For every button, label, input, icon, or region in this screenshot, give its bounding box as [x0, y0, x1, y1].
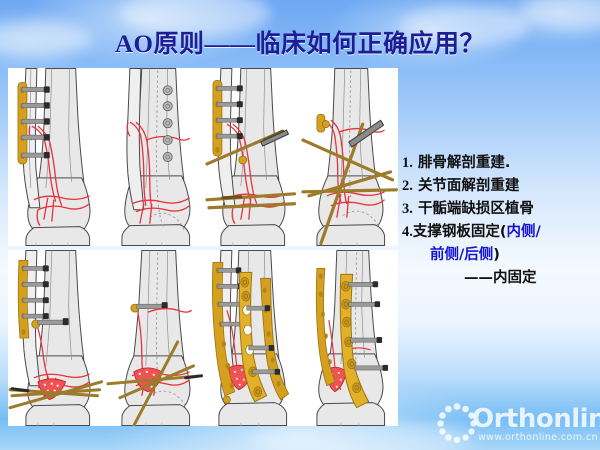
list-item-4: 4.支撑钢板固定(内侧/: [402, 221, 598, 244]
figure-bone-graft-metaphyseal-defect-lateral: [8, 250, 106, 426]
watermark-brand: Orthonline: [472, 404, 600, 434]
list-item-3-number: 3.: [402, 201, 413, 217]
list-item-1: 1. 腓骨解剖重建.: [402, 152, 598, 175]
watermark: Orthonline www.orthonline.com.cn: [436, 400, 600, 448]
list-item-1-number: 1.: [402, 155, 413, 171]
list-item-3-label: 干骺端缺损区植骨: [418, 201, 534, 217]
list-item-3: 3. 干骺端缺损区植骨: [402, 198, 598, 221]
slide-canvas: AO原则——临床如何正确应用？: [0, 0, 600, 450]
figure-buttress-plate-medial-anterior-fixation: [203, 250, 301, 426]
list-item-4-continuation: 前侧/后侧): [402, 244, 598, 267]
figure-kwire-provisional-fixation-anterior: [301, 68, 399, 246]
list-item-4-number: 4.: [402, 224, 413, 240]
figure-kwire-provisional-fixation-lateral: [203, 68, 301, 246]
list-conclusion: ——内固定: [402, 267, 598, 290]
list-item-4-closeparen: ): [493, 247, 500, 263]
figure-fibula-plate-posterior-view-fracture: [106, 68, 204, 246]
list-item-2-label: 关节面解剖重建: [418, 178, 520, 194]
list-item-2-number: 2.: [402, 178, 413, 194]
list-item-4-label: 支撑钢板固定(: [413, 224, 507, 240]
figure-row-bottom: [8, 250, 398, 426]
list-item-4-highlight-cont: 前侧/后侧: [430, 247, 493, 263]
figure-fibula-plate-fixation-fracture-lines: [8, 68, 106, 246]
figure-row-top: [8, 68, 398, 246]
principles-list: 1. 腓骨解剖重建. 2. 关节面解剖重建 3. 干骺端缺损区植骨 4.支撑钢板…: [402, 152, 598, 290]
orthonline-logo-icon: [436, 402, 478, 444]
list-item-1-label: 腓骨解剖重建.: [418, 155, 511, 171]
list-item-4-highlight: 内侧/: [507, 224, 541, 240]
figure-bone-graft-metaphyseal-defect-anterior: [106, 250, 204, 426]
list-item-2: 2. 关节面解剖重建: [402, 175, 598, 198]
figure-buttress-plate-final-construct: [301, 250, 399, 426]
watermark-url: www.orthonline.com.cn: [478, 432, 598, 443]
page-title: AO原则——临床如何正确应用？: [0, 24, 600, 60]
